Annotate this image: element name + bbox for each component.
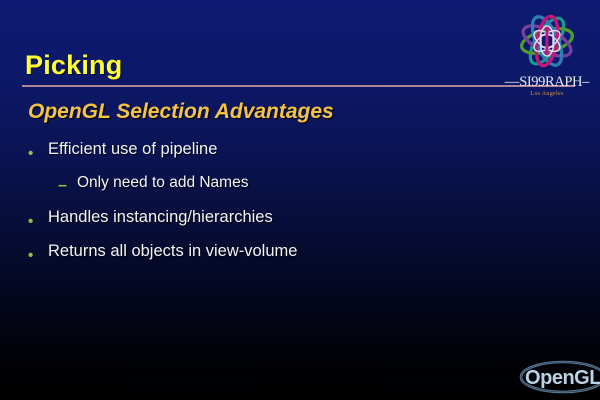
list-item-label: Handles instancing/hierarchies (48, 208, 273, 227)
list-item-label: Only need to add Names (77, 174, 248, 192)
siggraph-dash-right: – (582, 74, 589, 90)
bullet-list: • Efficient use of pipeline – Only need … (0, 139, 520, 275)
list-item-label: Efficient use of pipeline (48, 140, 217, 159)
list-item: • Efficient use of pipeline (0, 139, 520, 173)
page-title: Picking (25, 50, 122, 81)
opengl-logo-icon: OpenGL . (517, 358, 600, 396)
siggraph-wordmark: —SI99RAPH– (497, 74, 597, 91)
siggraph-rings-icon (505, 8, 589, 74)
list-item: – Only need to add Names (0, 173, 520, 207)
bullet-marker-icon: • (28, 146, 33, 161)
list-item-label: Returns all objects in view-volume (48, 242, 297, 261)
siggraph-wordmark-text: SI99RAPH (519, 74, 582, 90)
siggraph-city-label: Los Angeles (497, 91, 597, 97)
opengl-logo: OpenGL . (517, 358, 600, 396)
list-item: • Returns all objects in view-volume (0, 241, 520, 275)
title-divider (22, 85, 575, 87)
slide-subtitle: OpenGL Selection Advantages (28, 100, 334, 124)
bullet-marker-icon: • (28, 214, 33, 229)
bullet-marker-icon: • (28, 248, 33, 263)
slide: Picking OpenGL Selection Advantages • Ef… (0, 0, 600, 400)
siggraph-logo: —SI99RAPH– Los Angeles (497, 8, 597, 104)
list-item: • Handles instancing/hierarchies (0, 207, 520, 241)
svg-text:OpenGL: OpenGL (525, 367, 600, 389)
siggraph-dash-left: — (505, 74, 520, 90)
sub-bullet-dash-icon: – (58, 178, 67, 194)
